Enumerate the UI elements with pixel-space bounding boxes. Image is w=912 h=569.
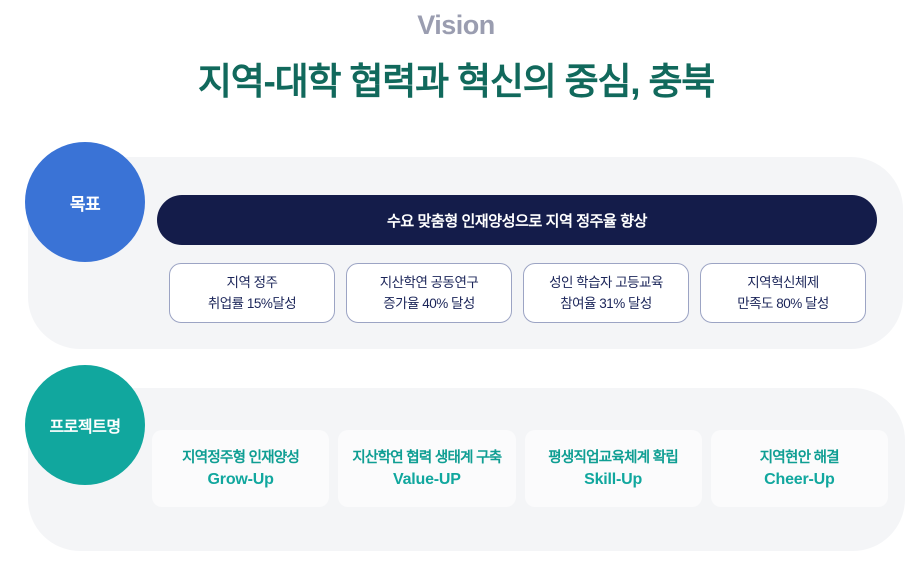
project-card: 지산학연 협력 생태계 구축 Value-UP: [338, 430, 515, 507]
goal-card-line1: 지역혁신체제: [747, 273, 819, 293]
page-header: Vision 지역-대학 협력과 혁신의 중심, 충북: [0, 0, 912, 108]
goal-badge-label: 목표: [70, 190, 100, 215]
goal-banner-text: 수요 맞춤형 인재양성으로 지역 정주율 향상: [387, 210, 647, 231]
project-badge: 프로젝트명: [25, 365, 145, 485]
vision-eyebrow: Vision: [0, 6, 912, 44]
goal-banner: 수요 맞춤형 인재양성으로 지역 정주율 향상: [157, 195, 877, 245]
goal-card: 지역혁신체제 만족도 80% 달성: [700, 263, 866, 323]
project-card-korean: 지역현안 해결: [760, 448, 839, 469]
goal-badge: 목표: [25, 142, 145, 262]
project-card: 지역현안 해결 Cheer-Up: [711, 430, 888, 507]
goal-card-line1: 성인 학습자 고등교육: [549, 273, 663, 293]
project-card-korean: 지역정주형 인재양성: [182, 448, 299, 469]
goal-card: 성인 학습자 고등교육 참여율 31% 달성: [523, 263, 689, 323]
project-card: 평생직업교육체계 확립 Skill-Up: [525, 430, 702, 507]
goal-card-line1: 지역 정주: [227, 273, 278, 293]
project-card-english: Grow-Up: [208, 469, 274, 490]
goal-card-line2: 참여율 31% 달성: [560, 294, 652, 314]
goal-card-line2: 증가율 40% 달성: [383, 294, 475, 314]
project-card-korean: 평생직업교육체계 확립: [548, 448, 678, 469]
page-title: 지역-대학 협력과 혁신의 중심, 충북: [0, 56, 912, 108]
project-card: 지역정주형 인재양성 Grow-Up: [152, 430, 329, 507]
goal-card-line2: 취업률 15%달성: [208, 294, 296, 314]
goal-card-line1: 지산학연 공동연구: [380, 273, 479, 293]
project-card-english: Value-UP: [393, 469, 461, 490]
project-badge-label: 프로젝트명: [49, 413, 120, 437]
goal-card: 지역 정주 취업률 15%달성: [169, 263, 335, 323]
project-card-english: Skill-Up: [584, 469, 642, 490]
project-card-korean: 지산학연 협력 생태계 구축: [352, 448, 501, 469]
goal-card-line2: 만족도 80% 달성: [737, 294, 829, 314]
project-card-list: 지역정주형 인재양성 Grow-Up 지산학연 협력 생태계 구축 Value-…: [152, 430, 888, 507]
goal-card-list: 지역 정주 취업률 15%달성 지산학연 공동연구 증가율 40% 달성 성인 …: [169, 263, 866, 323]
goal-card: 지산학연 공동연구 증가율 40% 달성: [346, 263, 512, 323]
project-card-english: Cheer-Up: [764, 469, 834, 490]
